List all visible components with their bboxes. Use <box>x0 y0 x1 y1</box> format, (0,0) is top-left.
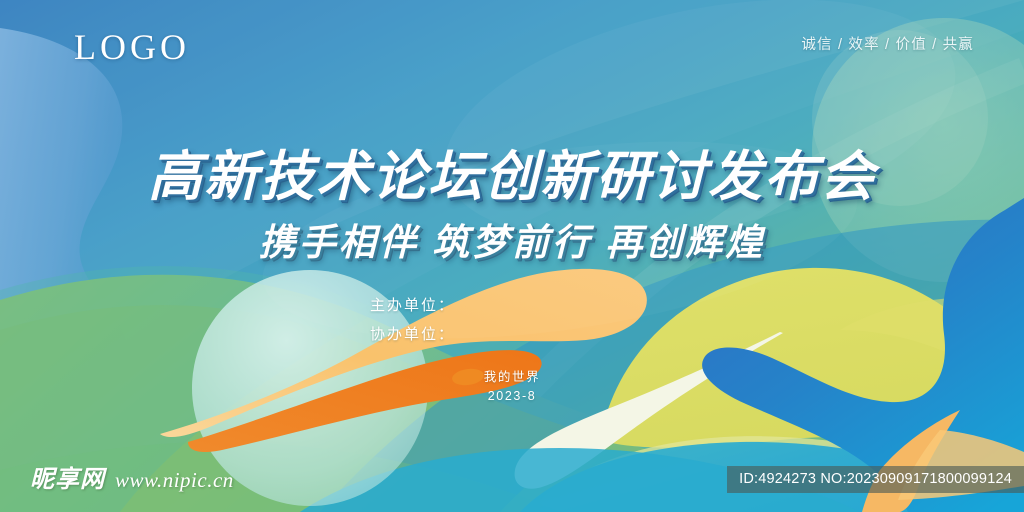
organizer-block: 主办单位： 协办单位： <box>370 291 455 349</box>
id-badge: ID:4924273 NO:20230909171800099124 <box>727 466 1024 493</box>
poster-canvas: LOGO 诚信 / 效率 / 价值 / 共赢 高新技术论坛创新研讨发布会 携手相… <box>0 0 1024 512</box>
host-label: 主办单位： <box>370 291 455 320</box>
watermark-brand: 昵享网 <box>30 459 105 494</box>
sub-title: 携手相伴 筑梦前行 再创辉煌 <box>259 212 766 266</box>
watermark-url: www.nipic.cn <box>115 468 234 493</box>
credit-block: 我的世界 2023-8 <box>0 368 1024 406</box>
main-title: 高新技术论坛创新研讨发布会 <box>148 132 876 211</box>
co-host-label: 协办单位： <box>370 320 455 349</box>
logo-text: LOGO <box>74 26 190 68</box>
sub-title-container: 携手相伴 筑梦前行 再创辉煌 <box>0 212 1024 266</box>
main-title-container: 高新技术论坛创新研讨发布会 <box>0 132 1024 211</box>
site-watermark: 昵享网 www.nipic.cn <box>30 459 234 494</box>
credit-date: 2023-8 <box>0 387 1024 406</box>
slogan-text: 诚信 / 效率 / 价值 / 共赢 <box>801 33 974 54</box>
credit-author: 我的世界 <box>0 368 1024 387</box>
